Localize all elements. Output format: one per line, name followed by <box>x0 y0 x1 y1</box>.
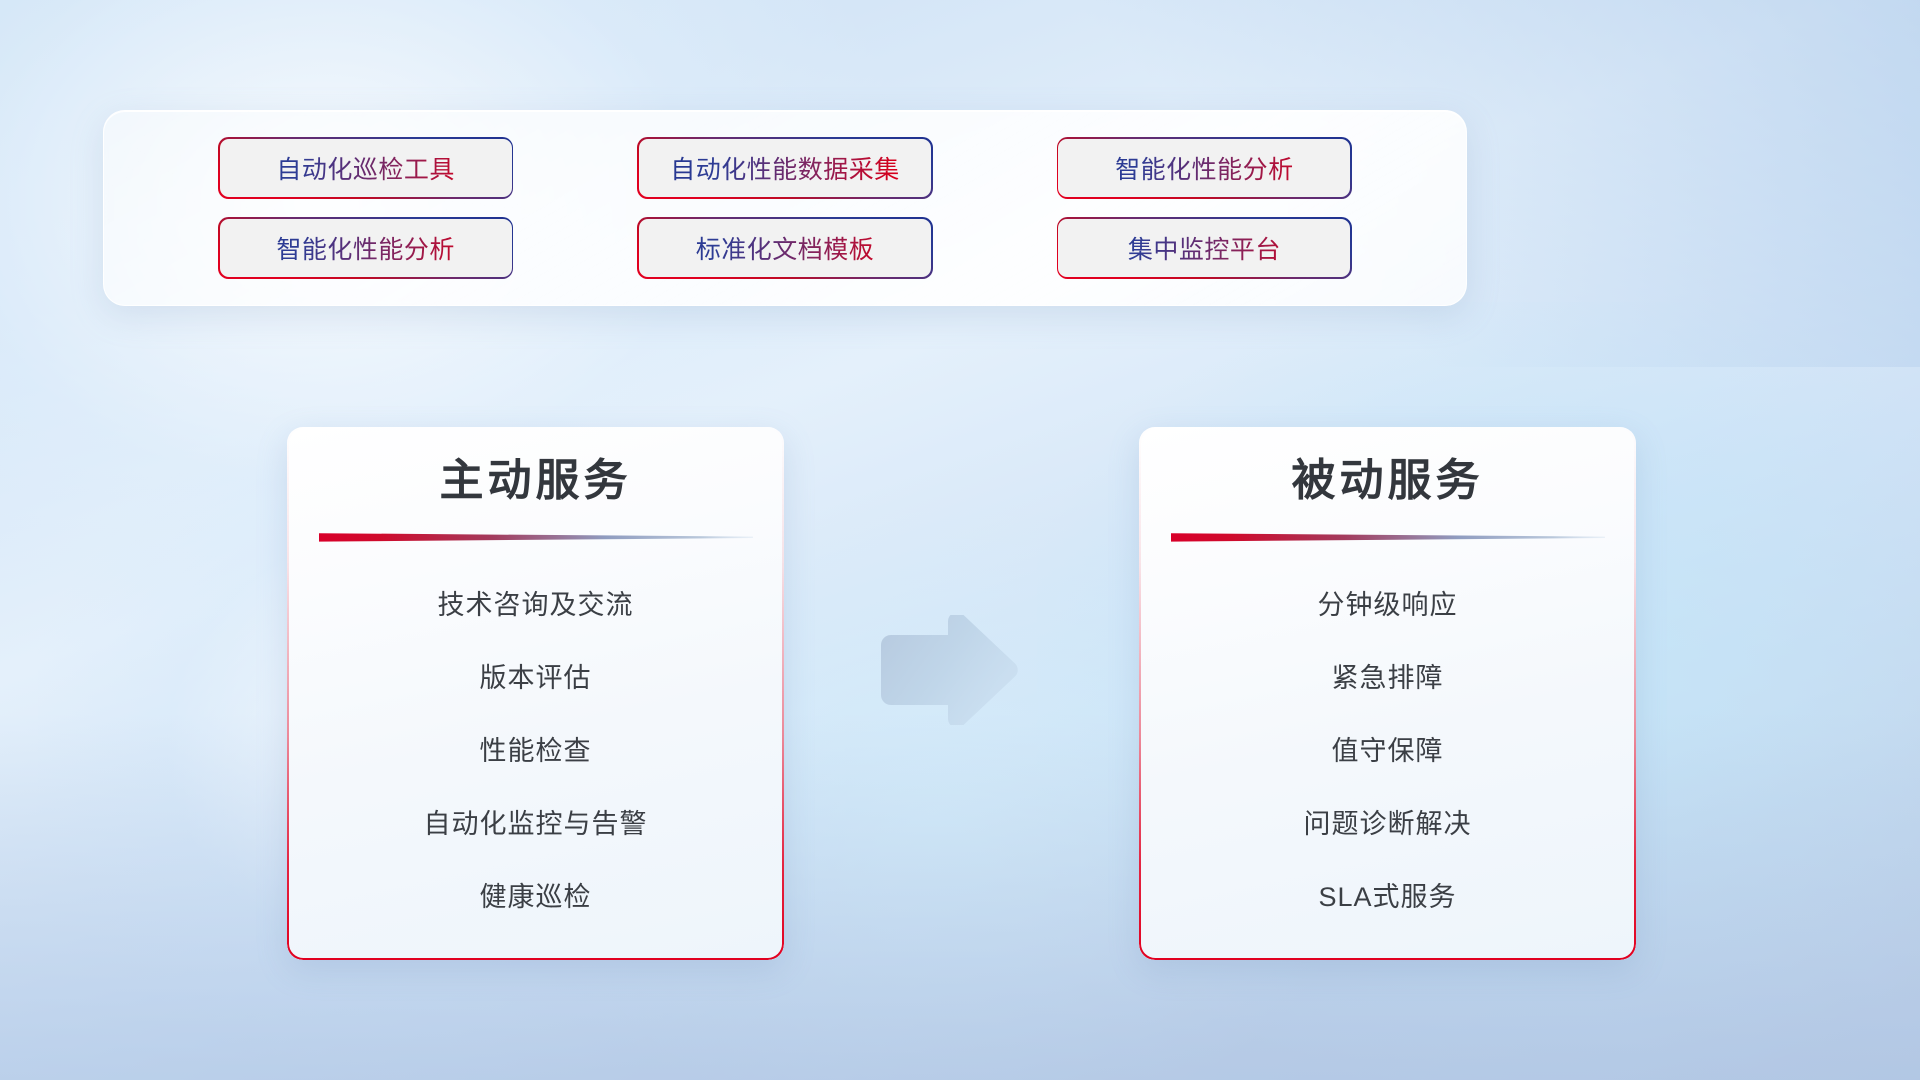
list-item: 性能检查 <box>480 715 592 788</box>
list-item: 自动化监控与告警 <box>424 788 648 861</box>
capability-pill-4[interactable]: 智能化性能分析 <box>220 219 512 277</box>
list-item: 技术咨询及交流 <box>438 569 634 642</box>
card-divider-proactive <box>319 532 753 543</box>
capability-pill-2[interactable]: 自动化性能数据采集 <box>639 139 931 197</box>
capability-pill-5[interactable]: 标准化文档模板 <box>639 219 931 277</box>
card-list-proactive: 技术咨询及交流 版本评估 性能检查 自动化监控与告警 健康巡检 <box>317 569 754 934</box>
list-item: 版本评估 <box>480 642 592 715</box>
list-item: 紧急排障 <box>1332 642 1444 715</box>
card-list-reactive: 分钟级响应 紧急排障 值守保障 问题诊断解决 SLA式服务 <box>1169 569 1606 934</box>
service-card-proactive: 主动服务 技术咨询及交流 版本评估 性能检查 自动化监控与告警 健康巡检 <box>287 427 784 960</box>
service-card-reactive: 被动服务 分钟级响应 紧急排障 值守保障 问题诊断解决 SLA式服务 <box>1139 427 1636 960</box>
card-title-reactive: 被动服务 <box>1292 455 1484 508</box>
list-item: SLA式服务 <box>1318 861 1456 934</box>
arrow-right-icon <box>873 615 1023 725</box>
capability-pill-1[interactable]: 自动化巡检工具 <box>220 139 512 197</box>
list-item: 分钟级响应 <box>1318 569 1458 642</box>
capability-pill-6[interactable]: 集中监控平台 <box>1058 219 1350 277</box>
capability-panel: 自动化巡检工具 自动化性能数据采集 智能化性能分析 智能化性能分析 标准化文档模… <box>103 110 1467 306</box>
list-item: 值守保障 <box>1332 715 1444 788</box>
capability-pill-3[interactable]: 智能化性能分析 <box>1058 139 1350 197</box>
card-title-proactive: 主动服务 <box>440 455 632 508</box>
list-item: 问题诊断解决 <box>1304 788 1472 861</box>
card-divider-reactive <box>1171 532 1605 543</box>
list-item: 健康巡检 <box>480 861 592 934</box>
